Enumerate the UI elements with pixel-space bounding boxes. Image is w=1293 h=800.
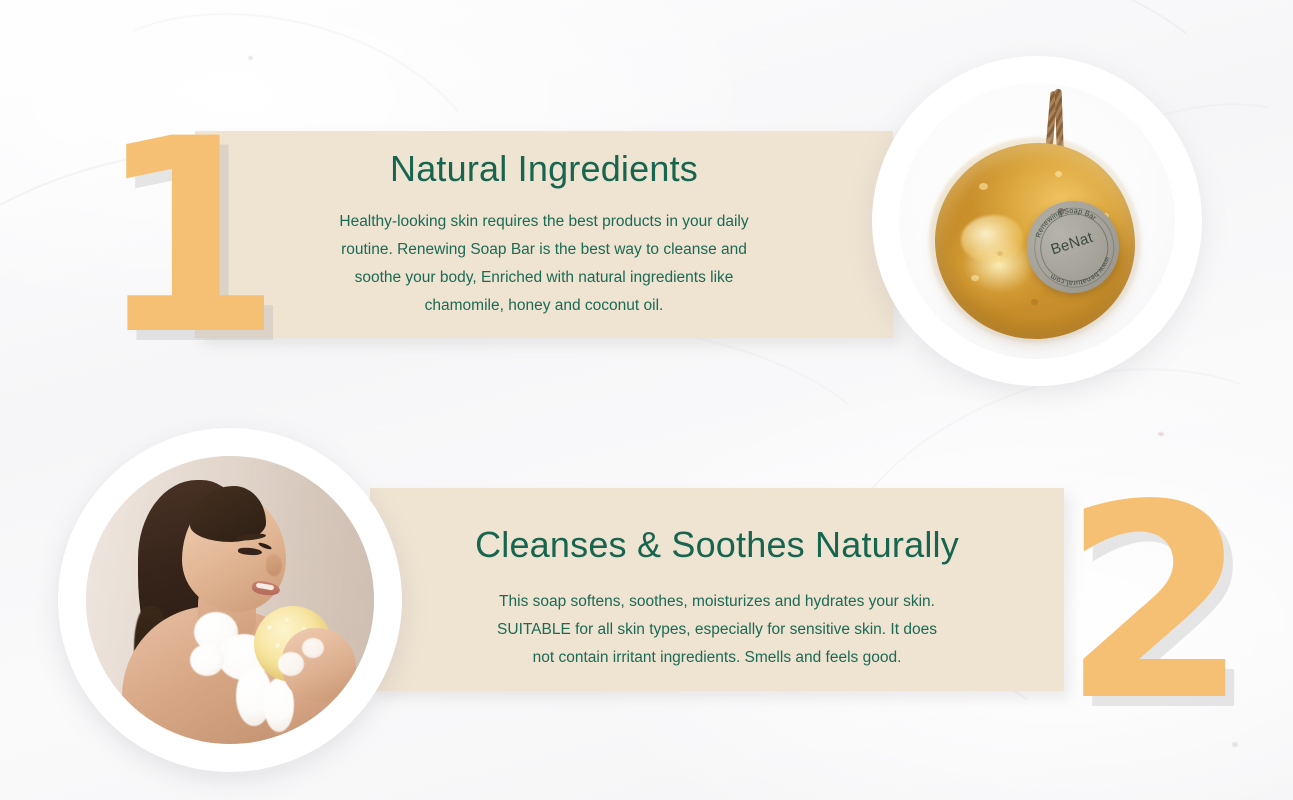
body-line: chamomile, honey and coconut oil. [240,292,848,320]
body-line: SUITABLE for all skin types, especially … [420,616,1014,644]
soap-highlight [961,215,1023,263]
body-line: routine. Renewing Soap Bar is the best w… [240,236,848,264]
soap-fleck [971,275,979,281]
body-line: Healthy-looking skin requires the best p… [240,208,848,236]
body-line: not contain irritant ingredients. Smells… [420,644,1014,672]
section-1-heading: Natural Ingredients [195,148,893,190]
soap-bar-photo: Renewing Soap Bar www.benatural.com BeNa… [899,83,1175,359]
soap-foam [278,652,304,676]
section-2-heading: Cleanses & Soothes Naturally [370,524,1064,566]
body-line: soothe your body, Enriched with natural … [240,264,848,292]
soap-foam [190,644,224,676]
section-2-body: This soap softens, soothes, moisturizes … [420,588,1014,672]
shower-lifestyle-photo [86,456,374,744]
woman-nose [266,554,282,576]
soap-fleck [979,183,988,190]
section-2-number: 2 [1062,470,1243,738]
marble-speck [1158,432,1164,436]
shower-photo-circle-frame [58,428,402,772]
soap-fleck [1055,171,1062,177]
infographic-canvas: 1 Natural Ingredients Healthy-looking sk… [0,0,1293,800]
body-line: This soap softens, soothes, moisturizes … [420,588,1014,616]
section-1-body: Healthy-looking skin requires the best p… [240,208,848,320]
marble-speck [248,56,253,60]
soap-foam [302,638,324,658]
soap-fleck [1031,299,1038,305]
soap-photo-circle-frame: Renewing Soap Bar www.benatural.com BeNa… [872,56,1202,386]
